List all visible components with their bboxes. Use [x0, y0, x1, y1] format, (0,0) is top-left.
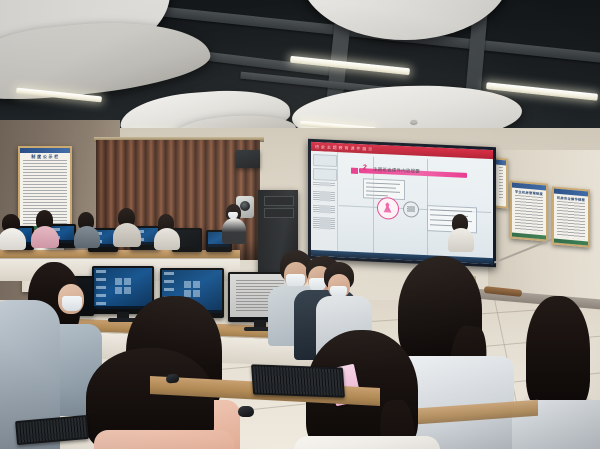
monitor-screen-desktop[interactable] [94, 268, 152, 309]
rack-panel [264, 196, 294, 206]
pink-circular-emblem-icon [377, 197, 399, 220]
poster-body-lines [499, 167, 503, 200]
poster-footer [512, 233, 546, 240]
sidebar-thumb-2[interactable] [313, 168, 337, 181]
emblem-figure [383, 202, 392, 213]
banner-marker [351, 167, 358, 173]
gray-official-seal-icon [403, 201, 419, 218]
poster-body-lines [515, 195, 543, 233]
poster-right-1: 学生机房管理制度 [510, 180, 548, 241]
poster-right-2: 机房安全操作规程 [552, 186, 590, 247]
classroom-photo: 制 度 公 示 栏 学生机房管理制度 机房安全操作规程 班 会 主 题 教 育 … [0, 0, 600, 449]
poster-footer [554, 239, 588, 246]
poster-header [20, 148, 70, 153]
poster-body-lines [557, 201, 585, 239]
wall-speaker [236, 150, 260, 168]
sidebar-text-4 [313, 217, 335, 230]
rack-panel [264, 208, 294, 218]
sidebar-thumb-1[interactable] [313, 154, 337, 167]
mouse[interactable] [238, 406, 254, 417]
sidebar-text-1 [313, 182, 335, 187]
sidebar-text-2 [313, 191, 335, 202]
poster-header [496, 159, 506, 165]
banner-number: 2 [363, 164, 367, 171]
keyboard[interactable] [251, 364, 345, 397]
smoke-detector-icon [410, 120, 417, 124]
slide-sidebar [311, 151, 338, 257]
sidebar-text-3 [313, 205, 335, 214]
poster-right-3 [494, 157, 508, 208]
